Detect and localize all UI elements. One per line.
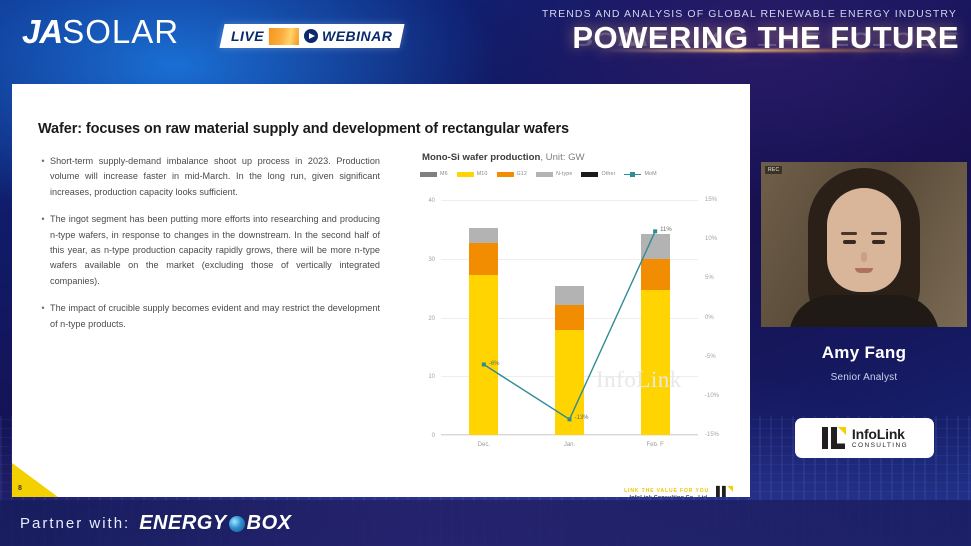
legend-item-m10[interactable]: M10 bbox=[457, 171, 488, 177]
header-tagline: TRENDS AND ANALYSIS OF GLOBAL RENEWABLE … bbox=[542, 8, 957, 20]
chart-title-main: Mono-Si wafer production bbox=[422, 152, 540, 163]
y2-axis-tick-label: 0% bbox=[705, 315, 714, 321]
mom-data-label: 11% bbox=[660, 227, 672, 233]
energybox-right: BOX bbox=[247, 512, 292, 535]
legend-swatch bbox=[457, 172, 474, 177]
legend-label: N-type bbox=[556, 171, 572, 177]
live-badge-label: LIVE bbox=[231, 28, 264, 44]
mom-data-point bbox=[653, 229, 657, 233]
legend-label: M6 bbox=[440, 171, 448, 177]
legend-label: G12 bbox=[517, 171, 528, 177]
chart-plot-area: 010203040-15%-10%-5%0%5%10%15%Dec.Jan.Fe… bbox=[441, 200, 698, 435]
chart-legend: M6M10G12N-typeOtherMoM bbox=[420, 171, 740, 177]
speaker-name: Amy Fang bbox=[761, 343, 967, 363]
live-webinar-badge: LIVE WEBINAR bbox=[219, 24, 404, 48]
eyebrow-left bbox=[841, 232, 857, 235]
legend-label: M10 bbox=[477, 171, 488, 177]
ja-solar-logo-solar: SOLAR bbox=[62, 13, 179, 50]
presentation-slide[interactable]: Wafer: focuses on raw material supply an… bbox=[12, 84, 750, 497]
chart-title: Mono-Si wafer production, Unit: GW bbox=[422, 152, 740, 163]
bullet-marker-icon: • bbox=[36, 301, 50, 332]
y-axis-tick-label: 40 bbox=[428, 198, 435, 204]
eyebrow-right bbox=[871, 232, 887, 235]
recording-badge: REC bbox=[765, 166, 782, 174]
y2-axis-tick-label: -5% bbox=[705, 354, 716, 360]
gridline: 0 bbox=[441, 435, 698, 436]
list-item: • Short-term supply-demand imbalance sho… bbox=[36, 154, 380, 200]
speaker-torso bbox=[789, 295, 939, 327]
legend-swatch bbox=[420, 172, 437, 177]
globe-icon bbox=[229, 516, 245, 532]
chart-unit-label: Unit: GW bbox=[546, 152, 585, 163]
eye-left bbox=[843, 240, 856, 244]
mom-data-point bbox=[482, 363, 486, 367]
y-axis-tick-label: 30 bbox=[428, 257, 435, 263]
infolink-subtitle: CONSULTING bbox=[852, 443, 908, 450]
bullet-marker-icon: • bbox=[36, 212, 50, 289]
x-axis-tick-label: Dec. bbox=[444, 442, 524, 448]
legend-item-other[interactable]: Other bbox=[581, 171, 615, 177]
light-flare bbox=[601, 49, 931, 52]
slide-page-badge: 8 bbox=[12, 463, 58, 497]
legend-item-n-type[interactable]: N-type bbox=[536, 171, 572, 177]
ja-solar-logo-ja: JA bbox=[22, 13, 62, 50]
chart: Mono-Si wafer production, Unit: GW M6M10… bbox=[410, 152, 740, 497]
legend-label: Other bbox=[601, 171, 615, 177]
y2-axis-tick-label: -15% bbox=[705, 432, 719, 438]
partner-label: Partner with: bbox=[20, 515, 130, 532]
energybox-left: ENERGY bbox=[139, 512, 226, 535]
speaker-role: Senior Analyst bbox=[761, 372, 967, 383]
bullet-text: The impact of crucible supply becomes ev… bbox=[50, 301, 380, 332]
y2-axis-tick-label: -10% bbox=[705, 393, 719, 399]
mom-data-label: -6% bbox=[489, 361, 500, 367]
ja-solar-logo: JASOLAR bbox=[22, 12, 179, 52]
infolink-company-name: InfoLink Consulting Co., Ltd. bbox=[624, 495, 709, 497]
legend-swatch bbox=[536, 172, 553, 177]
list-item: • The ingot segment has been putting mor… bbox=[36, 212, 380, 289]
legend-line-swatch bbox=[624, 172, 641, 177]
legend-swatch bbox=[581, 172, 598, 177]
legend-item-m6[interactable]: M6 bbox=[420, 171, 448, 177]
energybox-logo: ENERGY BOX bbox=[139, 512, 291, 535]
infolink-slogan: LINK THE VALUE FOR YOU bbox=[624, 488, 709, 495]
infolink-logo-card: InfoLink CONSULTING bbox=[795, 418, 934, 458]
page-header: JASOLAR LIVE WEBINAR TRENDS AND ANALYSIS… bbox=[0, 0, 971, 66]
footer-bar: Partner with: ENERGY BOX bbox=[0, 500, 971, 546]
webinar-badge-label: WEBINAR bbox=[322, 28, 392, 44]
nose bbox=[861, 252, 867, 262]
chart-footer: LINK THE VALUE FOR YOU InfoLink Consulti… bbox=[624, 485, 734, 497]
mom-data-point bbox=[568, 417, 572, 421]
page-number: 8 bbox=[18, 485, 22, 492]
play-icon bbox=[304, 29, 318, 43]
chart-plot: 010203040-15%-10%-5%0%5%10%15%Dec.Jan.Fe… bbox=[410, 194, 740, 459]
legend-swatch bbox=[497, 172, 514, 177]
legend-item-g12[interactable]: G12 bbox=[497, 171, 528, 177]
y-axis-tick-label: 10 bbox=[428, 374, 435, 380]
list-item: • The impact of crucible supply becomes … bbox=[36, 301, 380, 332]
y-axis-tick-label: 0 bbox=[432, 433, 435, 439]
infolink-logo-small bbox=[715, 485, 734, 497]
infolink-mark-icon bbox=[821, 426, 847, 451]
y2-axis-tick-label: 5% bbox=[705, 275, 714, 281]
x-axis-tick-label: Feb. F bbox=[615, 442, 695, 448]
y-axis-tick-label: 20 bbox=[428, 316, 435, 322]
speaker-face bbox=[827, 188, 901, 292]
legend-label: MoM bbox=[644, 171, 656, 177]
slide-title: Wafer: focuses on raw material supply an… bbox=[38, 121, 569, 137]
flame-icon bbox=[269, 28, 299, 45]
y2-axis-tick-label: 15% bbox=[705, 197, 717, 203]
x-axis-tick-label: Jan. bbox=[530, 442, 610, 448]
mouth bbox=[855, 268, 873, 273]
partner-block: Partner with: ENERGY BOX bbox=[20, 512, 292, 535]
legend-item-mom[interactable]: MoM bbox=[624, 171, 656, 177]
mom-data-label: -13% bbox=[575, 415, 589, 421]
bullet-text: The ingot segment has been putting more … bbox=[50, 212, 380, 289]
mom-line-series bbox=[441, 200, 698, 435]
slide-bullet-list: • Short-term supply-demand imbalance sho… bbox=[36, 154, 380, 344]
eye-right bbox=[872, 240, 885, 244]
bullet-text: Short-term supply-demand imbalance shoot… bbox=[50, 154, 380, 200]
speaker-video-feed[interactable]: REC bbox=[761, 162, 967, 327]
chart-watermark: InfoLink bbox=[596, 367, 682, 393]
bullet-marker-icon: • bbox=[36, 154, 50, 200]
infolink-name: InfoLink bbox=[852, 427, 908, 441]
y2-axis-tick-label: 10% bbox=[705, 236, 717, 242]
